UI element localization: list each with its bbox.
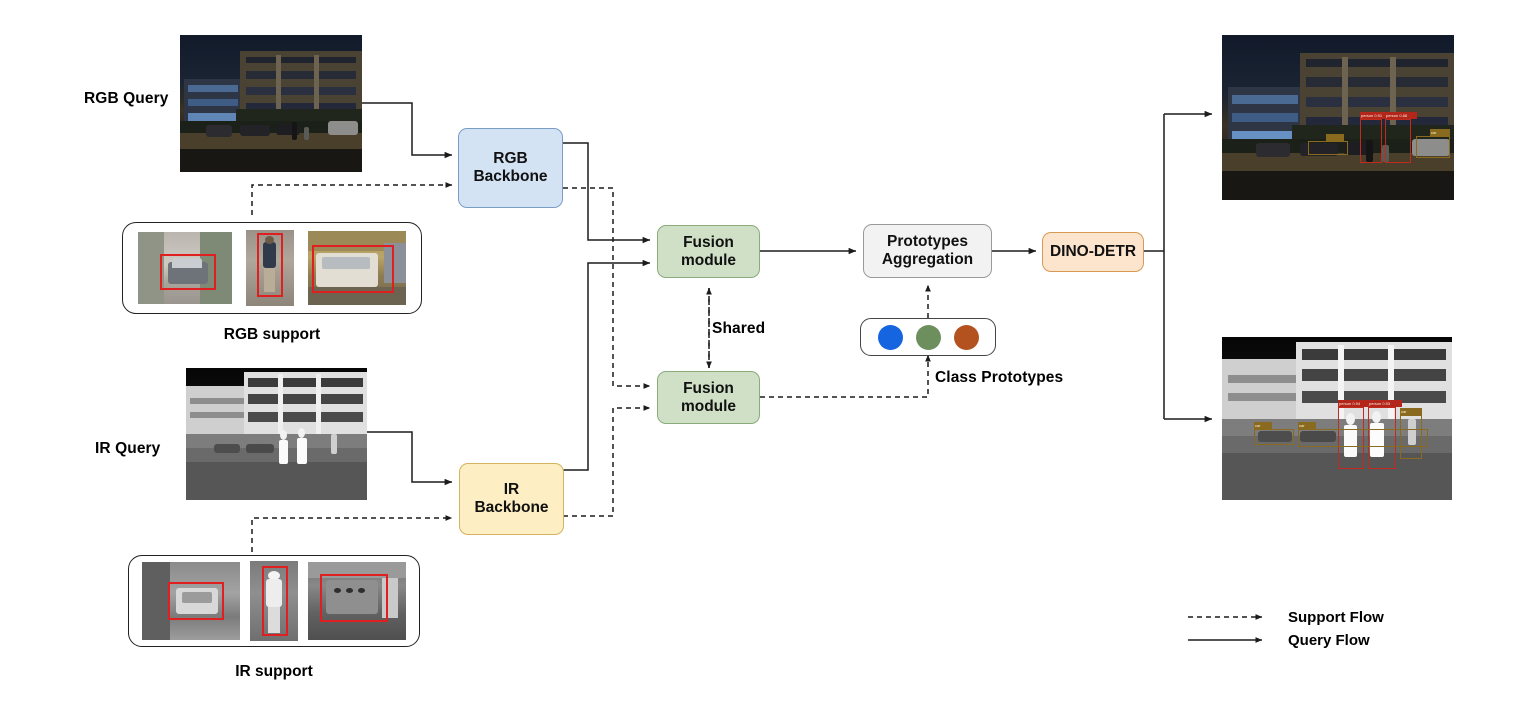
ir-support-item-person[interactable] bbox=[250, 561, 298, 641]
fusion-top-line1: Fusion bbox=[683, 234, 734, 252]
fusion-bottom-line2: module bbox=[681, 398, 736, 416]
ir-query-label: IR Query bbox=[95, 440, 160, 458]
ir-backbone-line2: Backbone bbox=[474, 499, 548, 517]
detection-box-person-1 bbox=[1360, 119, 1382, 163]
legend-row-support: Support Flow bbox=[1188, 608, 1468, 628]
edge-irbackbone-to-fusionbottom bbox=[563, 408, 650, 516]
prototype-orange-icon bbox=[954, 325, 979, 350]
class-prototypes-pill[interactable] bbox=[860, 318, 996, 356]
edge-irsupport-to-irbackbone bbox=[252, 518, 452, 552]
fusion-module-support-box[interactable]: Fusion module bbox=[657, 371, 760, 424]
edge-rgbbackbone-to-fusionbottom bbox=[563, 188, 650, 386]
detection-tag-car-2 bbox=[1326, 134, 1344, 141]
legend: Support Flow Query Flow bbox=[1188, 608, 1468, 654]
rgb-backbone-line1: RGB bbox=[493, 150, 527, 168]
class-prototypes-label: Class Prototypes bbox=[935, 369, 1063, 387]
prototype-blue-icon bbox=[878, 325, 903, 350]
rgb-support-caption: RGB support bbox=[122, 326, 422, 344]
architecture-diagram: RGB Query IR Query bbox=[0, 0, 1521, 716]
ir-backbone-box[interactable]: IR Backbone bbox=[459, 463, 564, 535]
ir-backbone-line1: IR bbox=[504, 481, 520, 499]
rgb-query-image bbox=[180, 35, 362, 172]
ir-detection-tag-car-3: car bbox=[1254, 422, 1272, 429]
rgb-support-item-person[interactable] bbox=[246, 230, 294, 306]
detection-box-person-2 bbox=[1385, 119, 1411, 163]
ir-detection-tag-person-1: person 0.94 bbox=[1338, 400, 1370, 407]
ir-detection-tag-person-2: person 0.93 bbox=[1368, 400, 1402, 407]
fusion-module-query-box[interactable]: Fusion module bbox=[657, 225, 760, 278]
ir-detection-box-car-2 bbox=[1298, 429, 1428, 447]
edge-rgbsupport-to-rgbbackbone bbox=[252, 185, 452, 215]
rgb-backbone-box[interactable]: RGB Backbone bbox=[458, 128, 563, 208]
ir-detection-box-car-3 bbox=[1254, 429, 1294, 445]
prototypes-aggregation-box[interactable]: Prototypes Aggregation bbox=[863, 224, 992, 278]
fusion-top-line2: module bbox=[681, 252, 736, 270]
ir-query-image bbox=[186, 368, 367, 500]
fusion-bottom-line1: Fusion bbox=[683, 380, 734, 398]
ir-support-item-truck[interactable] bbox=[308, 562, 406, 640]
prototypes-line1: Prototypes bbox=[887, 233, 968, 251]
legend-label-support: Support Flow bbox=[1288, 608, 1384, 628]
detection-tag-car-1: car bbox=[1430, 129, 1450, 136]
edge-fusionbottom-to-classprototypes bbox=[760, 355, 928, 397]
rgb-backbone-line2: Backbone bbox=[473, 168, 547, 186]
rgb-detection-result: person 0.91 person 0.88 car bbox=[1222, 35, 1454, 200]
legend-label-query: Query Flow bbox=[1288, 631, 1370, 651]
rgb-support-item-truck[interactable] bbox=[308, 231, 406, 305]
detection-box-car-1 bbox=[1416, 136, 1450, 158]
dino-detr-label: DINO-DETR bbox=[1050, 243, 1136, 261]
ir-support-caption: IR support bbox=[128, 663, 420, 681]
edge-irquery-to-irbackbone bbox=[367, 432, 452, 482]
detection-tag-person-2: person 0.88 bbox=[1385, 112, 1417, 119]
ir-detection-result: person 0.94 person 0.93 car car car bbox=[1222, 337, 1452, 500]
ir-detection-tag-car-2: car bbox=[1298, 422, 1316, 429]
edge-rgbquery-to-rgbbackbone bbox=[362, 103, 452, 155]
ir-support-gallery[interactable] bbox=[128, 555, 420, 647]
rgb-support-gallery[interactable] bbox=[122, 222, 422, 314]
legend-row-query: Query Flow bbox=[1188, 631, 1468, 651]
ir-support-item-car[interactable] bbox=[142, 562, 240, 640]
rgb-query-label: RGB Query bbox=[84, 90, 168, 108]
ir-detection-tag-car-1: car bbox=[1400, 408, 1422, 415]
shared-label: Shared bbox=[712, 320, 765, 338]
edge-irbackbone-to-fusiontop bbox=[563, 263, 650, 470]
dino-detr-box[interactable]: DINO-DETR bbox=[1042, 232, 1144, 272]
prototype-green-icon bbox=[916, 325, 941, 350]
detection-box-car-2 bbox=[1308, 141, 1348, 155]
edge-rgbbackbone-to-fusiontop bbox=[563, 143, 650, 240]
prototypes-line2: Aggregation bbox=[882, 251, 973, 269]
rgb-support-item-car[interactable] bbox=[138, 232, 232, 304]
